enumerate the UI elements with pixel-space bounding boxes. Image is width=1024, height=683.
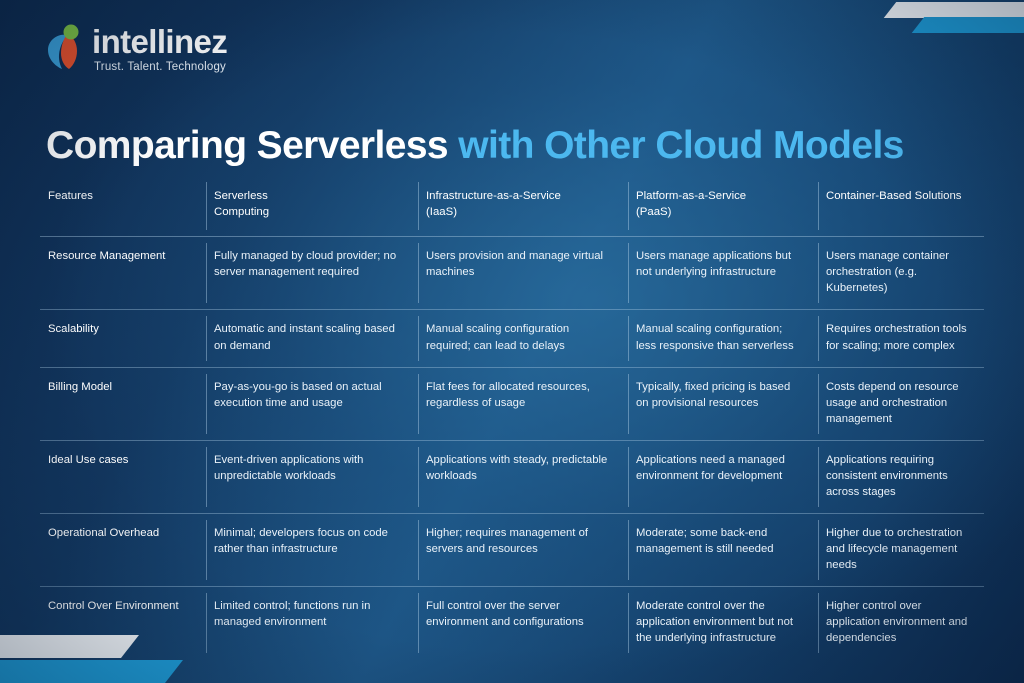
column-header-line-1: Container-Based Solutions — [826, 188, 970, 204]
page-title-part-2: with Other Cloud Models — [458, 124, 904, 167]
page-title: Comparing Serverless with Other Cloud Mo… — [46, 125, 904, 168]
table-row: Ideal Use cases Event-driven application… — [40, 441, 984, 514]
table-header-row: Features ServerlessComputing Infrastruct… — [40, 176, 984, 237]
row-cell-paas: Manual scaling configuration; less respo… — [628, 310, 818, 366]
row-cell-serverless: Event-driven applications with unpredict… — [206, 441, 418, 513]
table-row: Resource Management Fully managed by clo… — [40, 237, 984, 310]
table-row: Billing Model Pay-as-you-go is based on … — [40, 368, 984, 441]
comparison-table: Features ServerlessComputing Infrastruct… — [40, 176, 984, 659]
decor-band-blue-top — [912, 17, 1024, 33]
column-header-line-2: (IaaS) — [426, 204, 614, 220]
row-cell-iaas: Full control over the server environment… — [418, 587, 628, 659]
row-cell-serverless: Automatic and instant scaling based on d… — [206, 310, 418, 366]
row-cell-paas: Typically, fixed pricing is based on pro… — [628, 368, 818, 440]
row-cell-paas: Moderate; some back-end management is st… — [628, 514, 818, 586]
row-cell-serverless: Limited control; functions run in manage… — [206, 587, 418, 659]
row-cell-container: Requires orchestration tools for scaling… — [818, 310, 984, 366]
row-cell-container: Applications requiring consistent enviro… — [818, 441, 984, 513]
row-cell-paas: Moderate control over the application en… — [628, 587, 818, 659]
intellinez-droplet-logo-icon — [44, 24, 90, 74]
comparison-slide: intellinez Trust. Talent. Technology Com… — [0, 0, 1024, 683]
row-cell-serverless: Pay-as-you-go is based on actual executi… — [206, 368, 418, 440]
table-row: Scalability Automatic and instant scalin… — [40, 310, 984, 367]
column-header-serverless: ServerlessComputing — [206, 176, 418, 236]
row-cell-container: Costs depend on resource usage and orche… — [818, 368, 984, 440]
row-feature-label: Control Over Environment — [40, 587, 206, 659]
brand-tagline: Trust. Talent. Technology — [94, 62, 227, 74]
brand-logo-text: intellinez Trust. Talent. Technology — [92, 25, 227, 74]
column-header-line-2: Computing — [214, 204, 404, 220]
row-cell-iaas: Applications with steady, predictable wo… — [418, 441, 628, 513]
page-title-part-1: Comparing Serverless — [46, 124, 458, 167]
row-cell-iaas: Flat fees for allocated resources, regar… — [418, 368, 628, 440]
row-feature-label: Ideal Use cases — [40, 441, 206, 513]
brand-logo: intellinez Trust. Talent. Technology — [44, 22, 227, 76]
row-cell-container: Higher control over application environm… — [818, 587, 984, 659]
top-right-corner-decoration — [834, 0, 1024, 34]
row-cell-iaas: Users provision and manage virtual machi… — [418, 237, 628, 309]
row-cell-serverless: Minimal; developers focus on code rather… — [206, 514, 418, 586]
column-header-iaas: Infrastructure-as-a-Service(IaaS) — [418, 176, 628, 236]
table-row: Operational Overhead Minimal; developers… — [40, 514, 984, 587]
column-header-line-2: (PaaS) — [636, 204, 804, 220]
row-cell-iaas: Higher; requires management of servers a… — [418, 514, 628, 586]
row-cell-container: Higher due to orchestration and lifecycl… — [818, 514, 984, 586]
row-cell-paas: Users manage applications but not underl… — [628, 237, 818, 309]
row-cell-paas: Applications need a managed environment … — [628, 441, 818, 513]
decor-band-blue-bottom — [0, 660, 183, 683]
decor-band-white-top — [884, 2, 1024, 18]
column-header-line-1: Features — [48, 188, 192, 204]
column-header-paas: Platform-as-a-Service(PaaS) — [628, 176, 818, 236]
column-header-features: Features — [40, 176, 206, 236]
row-feature-label: Resource Management — [40, 237, 206, 309]
column-header-line-1: Infrastructure-as-a-Service — [426, 188, 614, 204]
brand-name: intellinez — [92, 25, 227, 58]
row-feature-label: Billing Model — [40, 368, 206, 440]
row-feature-label: Operational Overhead — [40, 514, 206, 586]
column-header-line-1: Platform-as-a-Service — [636, 188, 804, 204]
row-cell-serverless: Fully managed by cloud provider; no serv… — [206, 237, 418, 309]
row-cell-container: Users manage container orchestration (e.… — [818, 237, 984, 309]
table-row: Control Over Environment Limited control… — [40, 587, 984, 659]
row-cell-iaas: Manual scaling configuration required; c… — [418, 310, 628, 366]
column-header-line-1: Serverless — [214, 188, 404, 204]
column-header-container: Container-Based Solutions — [818, 176, 984, 236]
row-feature-label: Scalability — [40, 310, 206, 366]
